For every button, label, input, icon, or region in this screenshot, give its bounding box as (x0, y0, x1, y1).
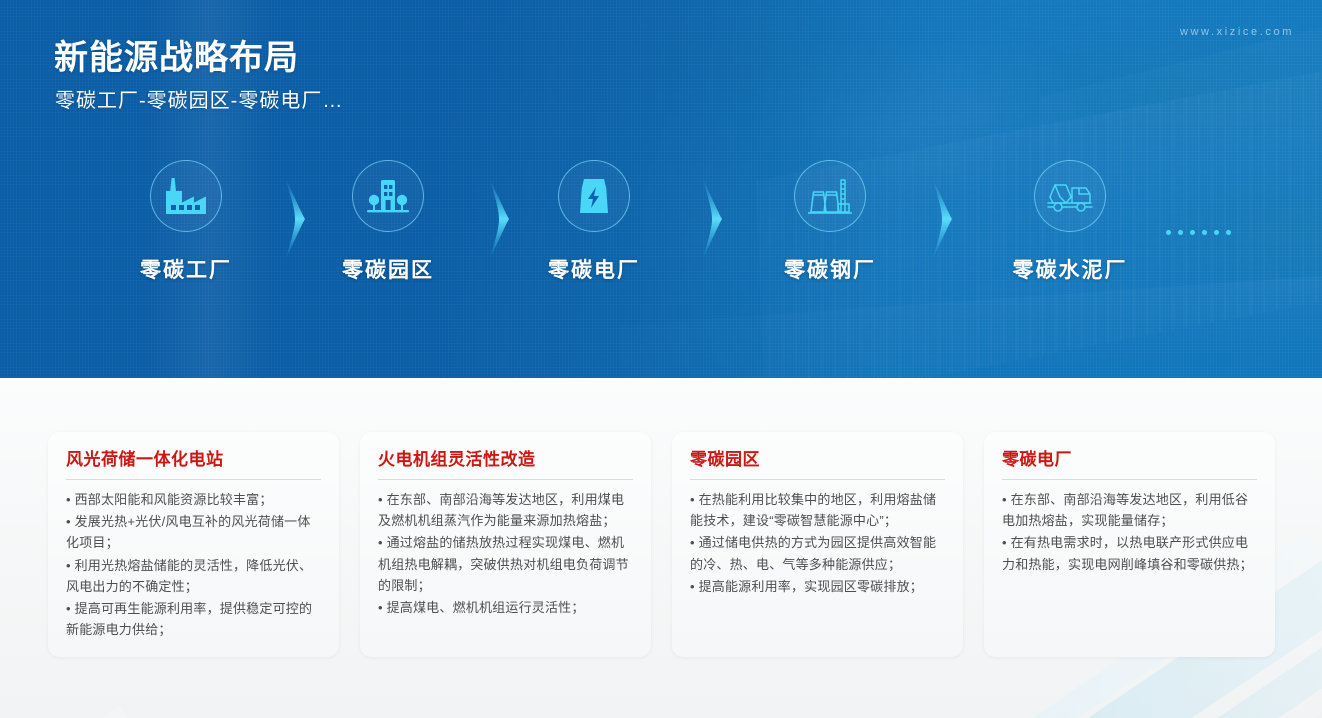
page-subtitle: 零碳工厂-零碳园区-零碳电厂… (55, 84, 343, 113)
card-bullet: 提高能源利用率，实现园区零碳排放； (690, 576, 945, 597)
card-title: 零碳电厂 (1002, 450, 1257, 470)
card-bullet: 通过储电供热的方式为园区提供高效智能的冷、热、电、气等多种能源供应； (690, 532, 945, 574)
card-title: 风光荷储一体化电站 (66, 450, 321, 470)
detail-panel: 风光荷储一体化电站 西部太阳能和风能资源比较丰富； 发展光热+光伏/风电互补的风… (0, 378, 1322, 718)
flow-step-label: 零碳工厂 (111, 254, 261, 284)
card-bullet-list: 在热能利用比较集中的地区，利用熔盐储能技术，建设“零碳智慧能源中心”； 通过储电… (690, 489, 945, 596)
flow-step-zero-carbon-factory[interactable]: 零碳工厂 (111, 160, 261, 284)
step-icon-circle (794, 160, 866, 232)
flow-step-zero-carbon-power-plant[interactable]: 零碳电厂 (519, 160, 669, 284)
card-title: 火电机组灵活性改造 (378, 450, 633, 470)
flow-step-zero-carbon-park[interactable]: 零碳园区 (313, 160, 463, 284)
ellipsis-dot (1226, 230, 1231, 235)
card-bullet-list: 在东部、南部沿海等发达地区，利用煤电及燃机机组蒸汽作为能量来源加热熔盐； 通过熔… (378, 489, 633, 617)
card-bullet: 在东部、南部沿海等发达地区，利用煤电及燃机机组蒸汽作为能量来源加热熔盐； (378, 489, 633, 531)
factory-icon (164, 176, 208, 216)
info-card[interactable]: 火电机组灵活性改造 在东部、南部沿海等发达地区，利用煤电及燃机机组蒸汽作为能量来… (360, 432, 651, 657)
flow-step-zero-carbon-steel-plant[interactable]: 零碳钢厂 (755, 160, 905, 284)
slide-root: www.xizice.com 新能源战略布局 零碳工厂-零碳园区-零碳电厂… (0, 0, 1322, 718)
card-bullet: 发展光热+光伏/风电互补的风光荷储一体化项目； (66, 511, 321, 553)
card-bullet-list: 在东部、南部沿海等发达地区，利用低谷电加热熔盐，实现能量储存； 在有热电需求时，… (1002, 489, 1257, 574)
card-bullet: 在热能利用比较集中的地区，利用熔盐储能技术，建设“零碳智慧能源中心”； (690, 489, 945, 531)
decor-band-gray-left-2 (0, 706, 139, 718)
process-flow: 零碳工厂 (0, 160, 1322, 320)
card-divider (690, 479, 945, 480)
card-divider (1002, 479, 1257, 480)
card-divider (378, 479, 633, 480)
power-plant-icon (573, 176, 615, 216)
cement-truck-icon (1046, 177, 1094, 215)
card-bullet: 通过熔盐的储热放热过程实现煤电、燃机机组热电解耦，突破供热对机组电负荷调节的限制… (378, 532, 633, 595)
step-icon-circle (150, 160, 222, 232)
info-card[interactable]: 零碳电厂 在东部、南部沿海等发达地区，利用低谷电加热熔盐，实现能量储存； 在有热… (984, 432, 1275, 657)
ellipsis-dot (1166, 230, 1171, 235)
flow-step-label: 零碳园区 (313, 254, 463, 284)
ellipsis-dot (1202, 230, 1207, 235)
flow-ellipsis-dots (1166, 230, 1231, 235)
flow-step-label: 零碳钢厂 (755, 254, 905, 284)
flow-arrow-3 (700, 180, 730, 258)
flow-step-zero-carbon-cement-plant[interactable]: 零碳水泥厂 (995, 160, 1145, 284)
ellipsis-dot (1214, 230, 1219, 235)
flow-arrow-1 (283, 180, 313, 258)
info-card[interactable]: 零碳园区 在热能利用比较集中的地区，利用熔盐储能技术，建设“零碳智慧能源中心”；… (672, 432, 963, 657)
card-bullet: 在有热电需求时，以热电联产形式供应电力和热能，实现电网削峰填谷和零碳供热； (1002, 532, 1257, 574)
card-bullet: 利用光热熔盐储能的灵活性，降低光伏、风电出力的不确定性； (66, 555, 321, 597)
card-divider (66, 479, 321, 480)
site-watermark: www.xizice.com (1180, 26, 1294, 38)
card-list: 风光荷储一体化电站 西部太阳能和风能资源比较丰富； 发展光热+光伏/风电互补的风… (48, 432, 1275, 657)
step-icon-circle (1034, 160, 1106, 232)
card-bullet: 西部太阳能和风能资源比较丰富； (66, 489, 321, 510)
ellipsis-dot (1190, 230, 1195, 235)
page-title: 新能源战略布局 (54, 30, 299, 79)
step-icon-circle (352, 160, 424, 232)
flow-step-label: 零碳水泥厂 (995, 254, 1145, 284)
card-bullet: 提高煤电、燃机机组运行灵活性； (378, 597, 633, 618)
info-card[interactable]: 风光荷储一体化电站 西部太阳能和风能资源比较丰富； 发展光热+光伏/风电互补的风… (48, 432, 339, 657)
flow-step-label: 零碳电厂 (519, 254, 669, 284)
card-bullet: 提高可再生能源利用率，提供稳定可控的新能源电力供给； (66, 598, 321, 640)
card-bullet: 在东部、南部沿海等发达地区，利用低谷电加热熔盐，实现能量储存； (1002, 489, 1257, 531)
card-title: 零碳园区 (690, 450, 945, 470)
step-icon-circle (558, 160, 630, 232)
flow-arrow-4 (930, 180, 960, 258)
ellipsis-dot (1178, 230, 1183, 235)
steel-plant-icon (807, 176, 853, 216)
flow-arrow-2 (487, 180, 517, 258)
hero-banner: www.xizice.com 新能源战略布局 零碳工厂-零碳园区-零碳电厂… (0, 0, 1322, 378)
card-bullet-list: 西部太阳能和风能资源比较丰富； 发展光热+光伏/风电互补的风光荷储一体化项目； … (66, 489, 321, 639)
industrial-park-icon (366, 176, 410, 216)
